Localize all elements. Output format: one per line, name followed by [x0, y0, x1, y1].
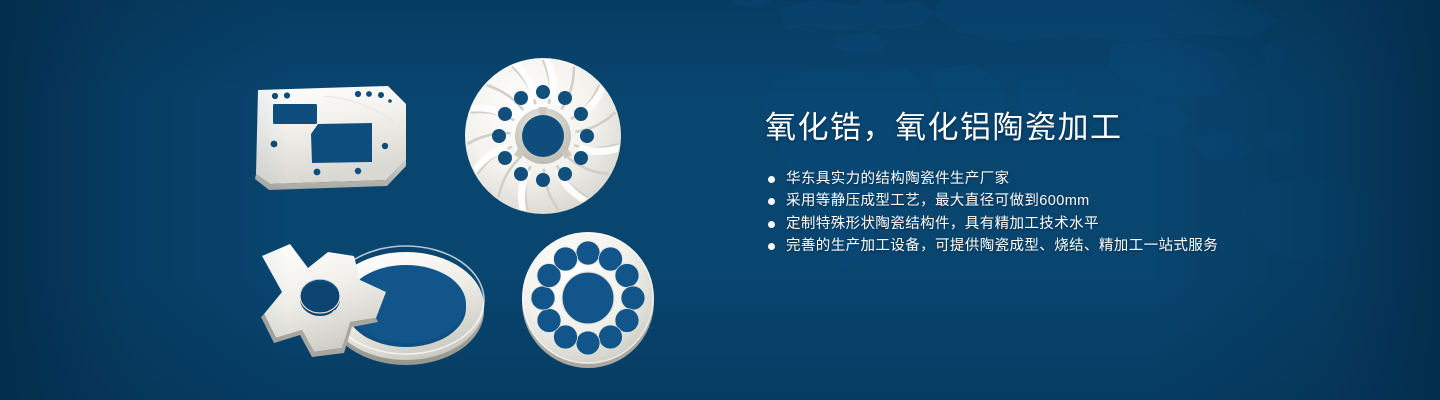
bullet-dot-icon	[768, 243, 775, 250]
list-item-label: 定制特殊形状陶瓷结构件，具有精加工技术水平	[786, 216, 1099, 232]
list-item: 采用等静压成型工艺，最大直径可做到600mm	[765, 190, 1385, 212]
bullet-dot-icon	[768, 198, 775, 205]
list-item: 完善的生产加工设备，可提供陶瓷成型、烧结、精加工一站式服务	[765, 235, 1385, 257]
bullet-dot-icon	[768, 176, 775, 183]
headline: 氧化锆，氧化铝陶瓷加工	[765, 108, 1385, 148]
list-item-label: 采用等静压成型工艺，最大直径可做到600mm	[786, 193, 1090, 209]
bullet-dot-icon	[768, 221, 775, 228]
marketing-copy: 氧化锆，氧化铝陶瓷加工 华东具实力的结构陶瓷件生产厂家 采用等静压成型工艺，最大…	[765, 108, 1385, 258]
feature-list: 华东具实力的结构陶瓷件生产厂家 采用等静压成型工艺，最大直径可做到600mm 定…	[765, 168, 1385, 258]
list-item: 华东具实力的结构陶瓷件生产厂家	[765, 168, 1385, 190]
product-banner: 氧化锆，氧化铝陶瓷加工 华东具实力的结构陶瓷件生产厂家 采用等静压成型工艺，最大…	[0, 0, 1440, 400]
list-item-label: 华东具实力的结构陶瓷件生产厂家	[786, 171, 1010, 187]
list-item-label: 完善的生产加工设备，可提供陶瓷成型、烧结、精加工一站式服务	[786, 238, 1218, 254]
list-item: 定制特殊形状陶瓷结构件，具有精加工技术水平	[765, 213, 1385, 235]
